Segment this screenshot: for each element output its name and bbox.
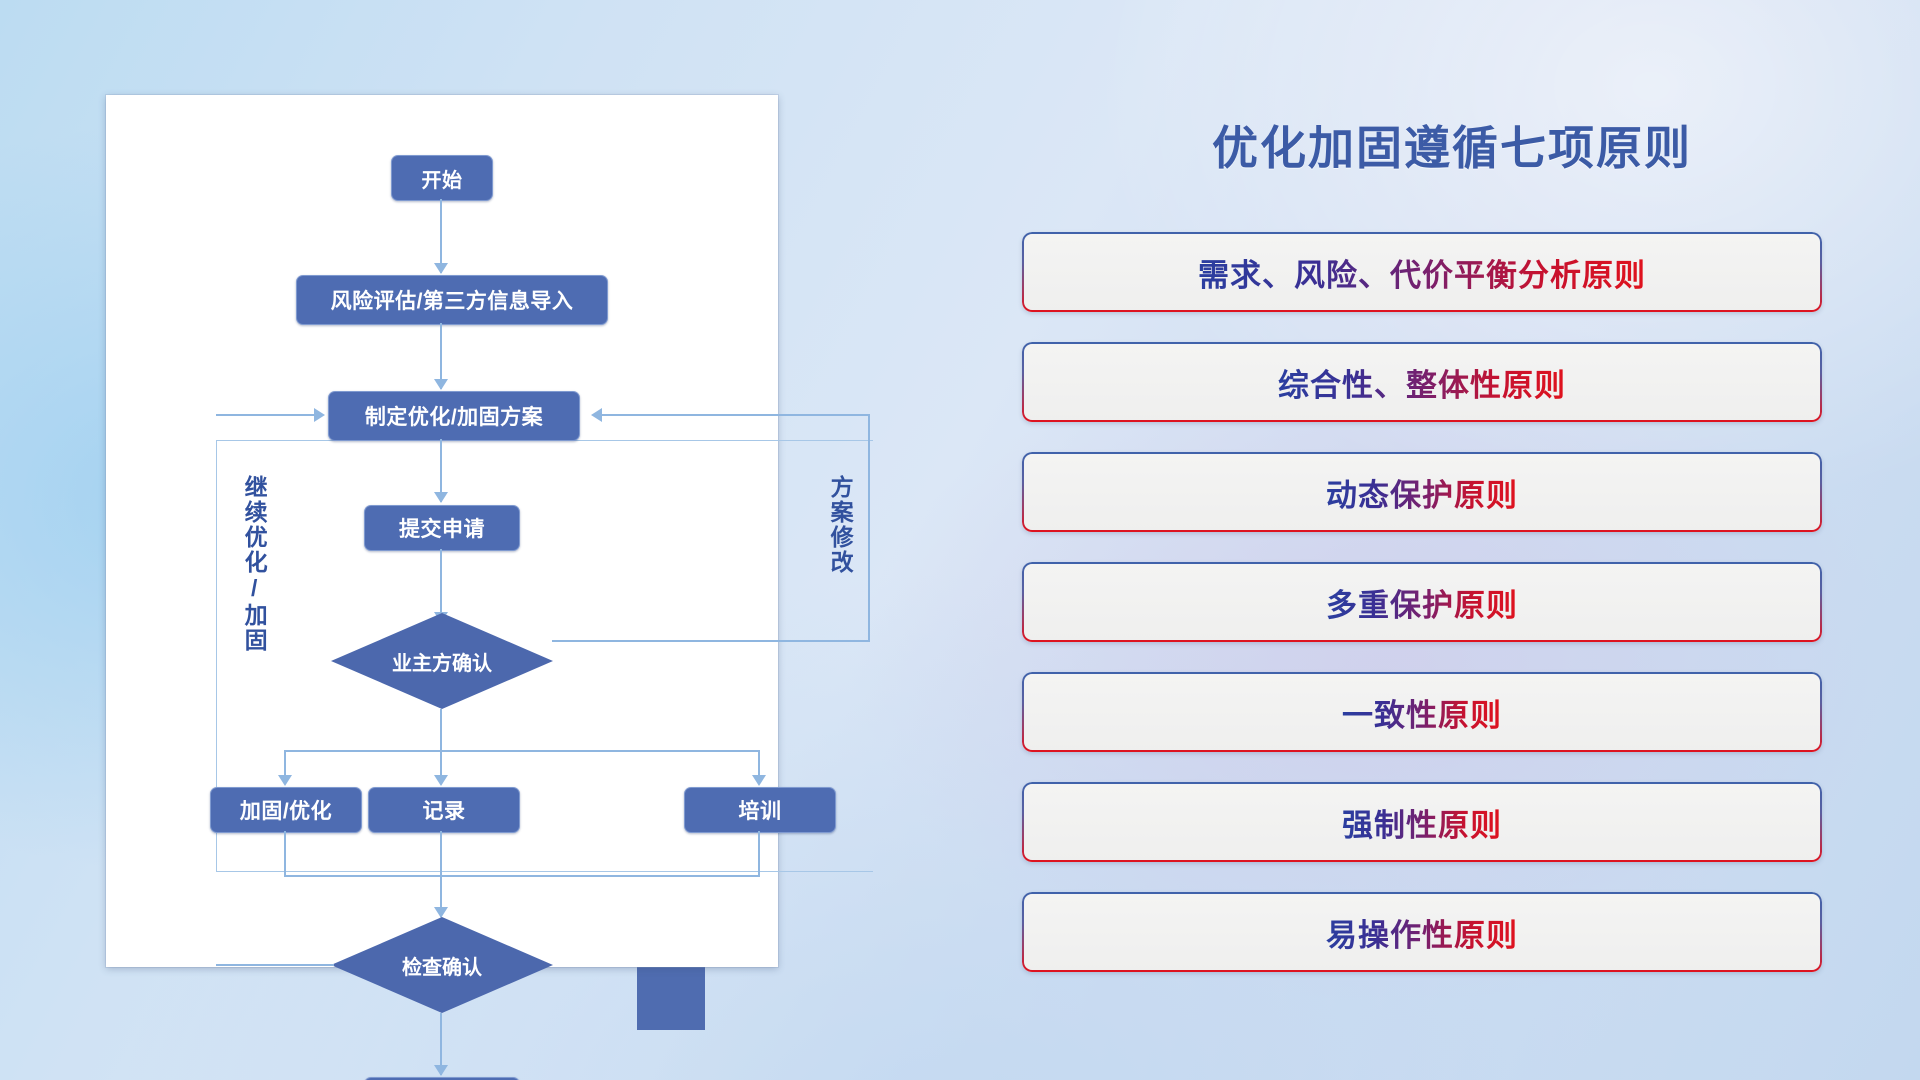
arrow-right-loop-into-plan xyxy=(591,408,602,422)
arrow-fanout-mid xyxy=(434,775,448,786)
connector-start-to-risk xyxy=(440,199,442,273)
principle-label: 需求、风险、代价平衡分析原则 xyxy=(1198,250,1646,295)
principle-card-6[interactable]: 强制性原则 xyxy=(1022,782,1822,862)
arrow-fanout-right xyxy=(752,775,766,786)
connector-fanin-right xyxy=(758,831,760,877)
principle-card-2[interactable]: 综合性、整体性原则 xyxy=(1022,342,1822,422)
node-submit-application[interactable]: 提交申请 xyxy=(364,505,520,551)
principle-card-1[interactable]: 需求、风险、代价平衡分析原则 xyxy=(1022,232,1822,312)
principle-label: 强制性原则 xyxy=(1342,800,1502,845)
decor-accent-horizontal xyxy=(637,962,705,1030)
node-risk-assessment[interactable]: 风险评估/第三方信息导入 xyxy=(296,275,608,325)
connector-fanout-bus xyxy=(284,750,760,752)
principle-label: 综合性、整体性原则 xyxy=(1278,360,1566,405)
page-title: 优化加固遵循七项原则 xyxy=(1152,112,1752,178)
connector-fanin-mid xyxy=(440,831,442,877)
node-record[interactable]: 记录 xyxy=(368,787,520,833)
node-make-plan[interactable]: 制定优化/加固方案 xyxy=(328,391,580,441)
principle-label: 动态保护原则 xyxy=(1326,470,1518,515)
connector-owner-to-right-rail xyxy=(552,640,870,642)
principle-card-4[interactable]: 多重保护原则 xyxy=(1022,562,1822,642)
flowchart-card: 开始 风险评估/第三方信息导入 制定优化/加固方案 继续优化/加固 方案修改 提… xyxy=(106,95,778,967)
connector-right-loop-into-plan xyxy=(602,414,870,416)
connector-fanin-bus xyxy=(284,875,760,877)
connector-check-to-left-rail xyxy=(216,964,334,966)
connector-left-loop-into-plan xyxy=(216,414,316,416)
principles-list: 需求、风险、代价平衡分析原则 综合性、整体性原则 动态保护原则 多重保护原则 一… xyxy=(1022,232,1822,1002)
arrow-risk-to-plan xyxy=(434,379,448,390)
principle-label: 易操作性原则 xyxy=(1326,910,1518,955)
arrow-plan-to-submit xyxy=(434,492,448,503)
principle-card-7[interactable]: 易操作性原则 xyxy=(1022,892,1822,972)
edge-label-right-loop: 方案修改 xyxy=(828,475,852,575)
node-reinforce[interactable]: 加固/优化 xyxy=(210,787,362,833)
arrow-left-loop-into-plan xyxy=(314,408,325,422)
principle-label: 一致性原则 xyxy=(1342,690,1502,735)
slide-canvas: 开始 风险评估/第三方信息导入 制定优化/加固方案 继续优化/加固 方案修改 提… xyxy=(0,0,1920,1080)
connector-fanin-left xyxy=(284,831,286,877)
connector-owner-down xyxy=(440,709,442,751)
node-check-confirm[interactable]: 检查确认 xyxy=(331,917,553,1013)
principle-card-5[interactable]: 一致性原则 xyxy=(1022,672,1822,752)
node-training[interactable]: 培训 xyxy=(684,787,836,833)
node-start[interactable]: 开始 xyxy=(391,155,493,201)
connector-right-loop-vertical xyxy=(868,414,870,642)
arrow-start-to-risk xyxy=(434,263,448,274)
arrow-fanout-left xyxy=(278,775,292,786)
arrow-bus-to-check xyxy=(434,907,448,918)
arrow-check-to-report xyxy=(434,1065,448,1076)
principle-card-3[interactable]: 动态保护原则 xyxy=(1022,452,1822,532)
edge-label-left-loop: 继续优化/加固 xyxy=(242,475,266,653)
principle-label: 多重保护原则 xyxy=(1326,580,1518,625)
